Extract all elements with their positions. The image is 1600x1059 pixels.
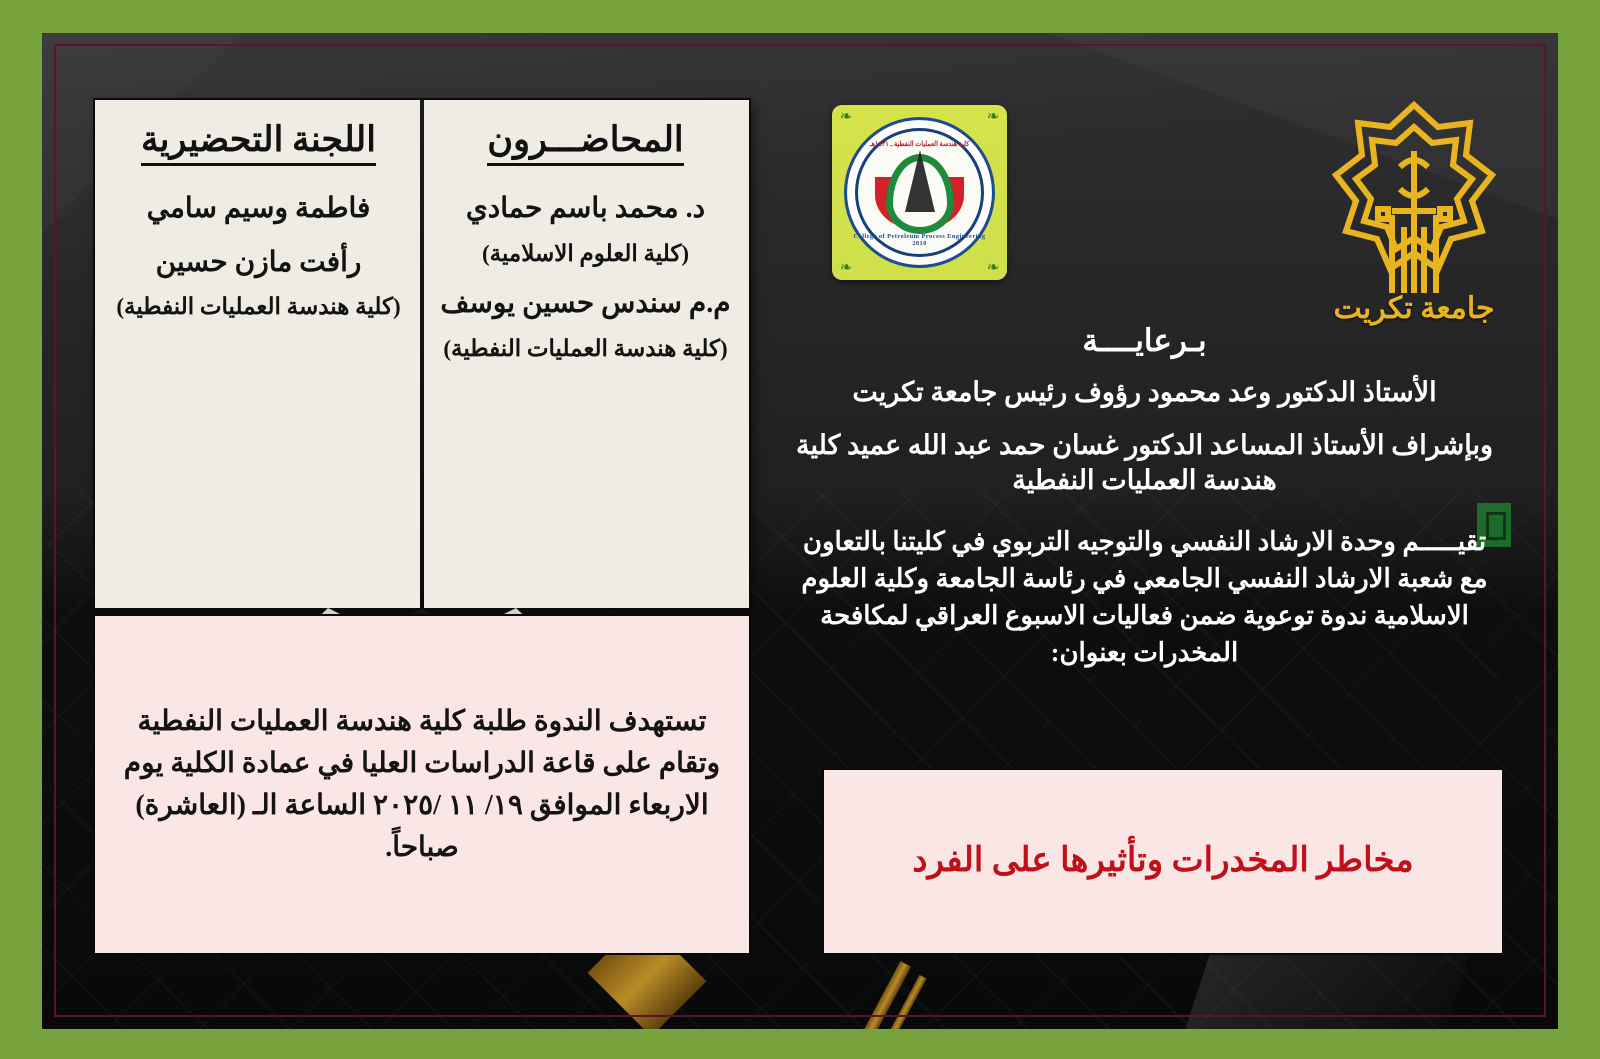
patronage-line-2: وبإشراف الأستاذ المساعد الدكتور غسان حمد… (787, 428, 1502, 498)
patronage-line-1: الأستاذ الدكتور وعد محمود رؤوف رئيس جامع… (787, 375, 1502, 410)
book-spine-divider (420, 100, 424, 608)
committee-member-affiliation: (كلية هندسة العمليات النفطية) (113, 293, 404, 321)
oil-derrick-icon (905, 150, 935, 212)
seminar-title-box: مخاطر المخدرات وتأثيرها على الفرد (824, 770, 1502, 953)
university-logo: جامعة تكريت (1314, 93, 1514, 328)
lecturers-column: المحاضـــرون د. محمد باسم حمادي (كلية ال… (422, 100, 749, 608)
university-name-label: جامعة تكريت (1314, 291, 1514, 326)
leaf-ornament-icon-3: ❧ (838, 260, 854, 276)
event-details-box: تستهدف الندوة طلبة كلية هندسة العمليات ا… (95, 616, 749, 953)
committee-heading: اللجنة التحضيرية (141, 120, 376, 166)
lecturer-name-2: م.م سندس حسين يوسف (440, 287, 731, 321)
open-book-card: اللجنة التحضيرية فاطمة وسيم سامي رأفت ما… (95, 100, 749, 608)
poster-canvas: اللجنة التحضيرية فاطمة وسيم سامي رأفت ما… (42, 33, 1558, 1029)
lecturer-name: د. محمد باسم حمادي (440, 192, 731, 226)
lecturers-heading: المحاضـــرون (487, 120, 683, 166)
eight-point-star-ornament-icon (1314, 93, 1514, 293)
organizer-paragraph: تقيـــــم وحدة الارشاد النفسي والتوجيه ا… (787, 524, 1502, 672)
college-seal-arabic-text: كلية هندسة العمليات النفطية ـ ١٤٣١هـ (853, 140, 986, 148)
event-details-text: تستهدف الندوة طلبة كلية هندسة العمليات ا… (121, 701, 723, 869)
lecturer-affiliation-2: (كلية هندسة العمليات النفطية) (440, 335, 731, 363)
committee-member-name: فاطمة وسيم سامي (113, 192, 404, 226)
college-seal-ring: كلية هندسة العمليات النفطية ـ ١٤٣١هـ Col… (844, 117, 995, 268)
college-seal-english-text: College of Petroleum Process Engineering… (847, 233, 992, 247)
leaf-ornament-icon: ❧ (838, 109, 854, 125)
right-text-column: بـرعايــــة الأستاذ الدكتور وعد محمود رؤ… (787, 323, 1502, 672)
lecturer-affiliation: (كلية العلوم الاسلامية) (440, 240, 731, 268)
committee-column: اللجنة التحضيرية فاطمة وسيم سامي رأفت ما… (95, 100, 422, 608)
poster-root: اللجنة التحضيرية فاطمة وسيم سامي رأفت ما… (0, 0, 1600, 1059)
seminar-title-text: مخاطر المخدرات وتأثيرها على الفرد (912, 839, 1413, 883)
leaf-ornament-icon-2: ❧ (985, 109, 1001, 125)
college-logo: ❧ ❧ ❧ ❧ كلية هندسة العمليات النفطية ـ ١٤… (832, 105, 1007, 280)
leaf-ornament-icon-4: ❧ (985, 260, 1001, 276)
committee-member-name-2: رأفت مازن حسين (113, 246, 404, 280)
patronage-heading: بـرعايــــة (787, 323, 1502, 359)
